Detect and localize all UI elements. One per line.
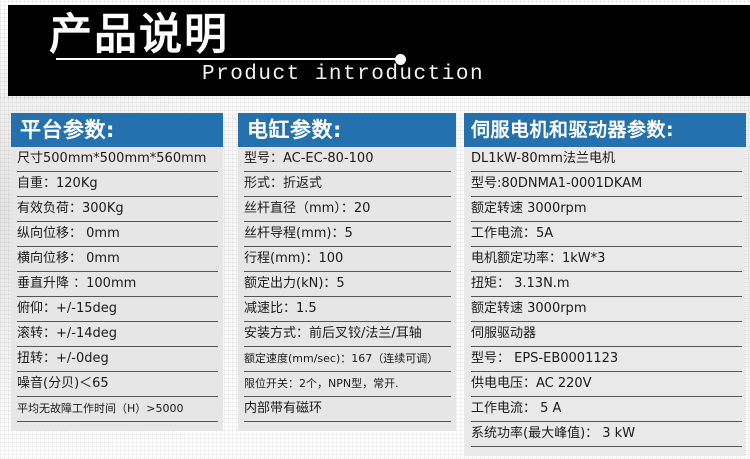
table-row: 电机额定功率：1kW*3 xyxy=(471,247,742,272)
table-row: 俯仰：+/-15deg xyxy=(17,297,218,322)
table-row: 自重：120Kg xyxy=(17,172,218,197)
platform-parameters-header: 平台参数: xyxy=(11,113,223,147)
product-introduction-page: 产品说明 Product introduction 平台参数: 尺寸500mm*… xyxy=(0,0,750,459)
table-row: 横向位移： 0mm xyxy=(17,247,218,272)
table-row: 型号： EPS-EB0001123 xyxy=(471,347,742,372)
table-row: 额定转速 3000rpm xyxy=(471,197,742,222)
table-row: 系统功率(最大峰值)： 3 kW xyxy=(471,422,742,447)
table-row: 工作电流： 5 A xyxy=(471,397,742,422)
table-row: 有效负荷：300Kg xyxy=(17,197,218,222)
table-row: 内部带有磁环 xyxy=(244,397,451,422)
electric-cylinder-parameters-header: 电缸参数: xyxy=(238,113,456,147)
table-row: 伺服驱动器 xyxy=(471,322,742,347)
page-subtitle: Product introduction xyxy=(202,63,484,86)
electric-cylinder-parameters-body: 型号：AC-EC-80-100 形式：折返式 丝杆直径（mm）：20 丝杆导程(… xyxy=(238,147,456,431)
table-row: 行程(mm)：100 xyxy=(244,247,451,272)
table-row: 扭矩： 3.13N.m xyxy=(471,272,742,297)
table-row: 丝杆直径（mm）：20 xyxy=(244,197,451,222)
table-row: 型号:80DNMA1-0001DKAM xyxy=(471,172,742,197)
table-row: 额定速度(mm/sec)：167（连续可调） xyxy=(244,347,451,372)
table-row: 额定出力(kN)：5 xyxy=(244,272,451,297)
page-title: 产品说明 xyxy=(49,9,229,61)
platform-parameters-column: 平台参数: 尺寸500mm*500mm*560mm 自重：120Kg 有效负荷：… xyxy=(11,113,223,431)
servo-motor-driver-parameters-column: 伺服电机和驱动器参数: DL1kW-80mm法兰电机 型号:80DNMA1-00… xyxy=(464,113,746,459)
table-row: 形式：折返式 xyxy=(244,172,451,197)
table-row: 丝杆导程(mm)：5 xyxy=(244,222,451,247)
table-row: 尺寸500mm*500mm*560mm xyxy=(17,147,218,172)
page-banner: 产品说明 Product introduction xyxy=(8,5,750,96)
table-row: 平均无故障工作时间（H）>5000 xyxy=(17,397,218,422)
electric-cylinder-parameters-column: 电缸参数: 型号：AC-EC-80-100 形式：折返式 丝杆直径（mm）：20… xyxy=(238,113,456,431)
platform-parameters-body: 尺寸500mm*500mm*560mm 自重：120Kg 有效负荷：300Kg … xyxy=(11,147,223,431)
table-row: 工作电流：5A xyxy=(471,222,742,247)
banner-divider-line xyxy=(56,58,400,60)
table-row: 减速比：1.5 xyxy=(244,297,451,322)
table-row: 扭转：+/-0deg xyxy=(17,347,218,372)
servo-motor-driver-parameters-header: 伺服电机和驱动器参数: xyxy=(464,113,746,147)
servo-motor-driver-parameters-body: DL1kW-80mm法兰电机 型号:80DNMA1-0001DKAM 额定转速 … xyxy=(464,147,746,456)
table-row: 额定转速 3000rpm xyxy=(471,297,742,322)
table-row: 滚转：+/-14deg xyxy=(17,322,218,347)
table-row: 安装方式：前后叉铰/法兰/耳轴 xyxy=(244,322,451,347)
table-row: 噪音(分贝)＜65 xyxy=(17,372,218,397)
table-row: 垂直升降 ：100mm xyxy=(17,272,218,297)
table-row: 纵向位移： 0mm xyxy=(17,222,218,247)
table-row: 型号：AC-EC-80-100 xyxy=(244,147,451,172)
table-row: DL1kW-80mm法兰电机 xyxy=(471,147,742,172)
table-row: 供电电压：AC 220V xyxy=(471,372,742,397)
table-row: 限位开关：2个，NPN型，常开. xyxy=(244,372,451,397)
